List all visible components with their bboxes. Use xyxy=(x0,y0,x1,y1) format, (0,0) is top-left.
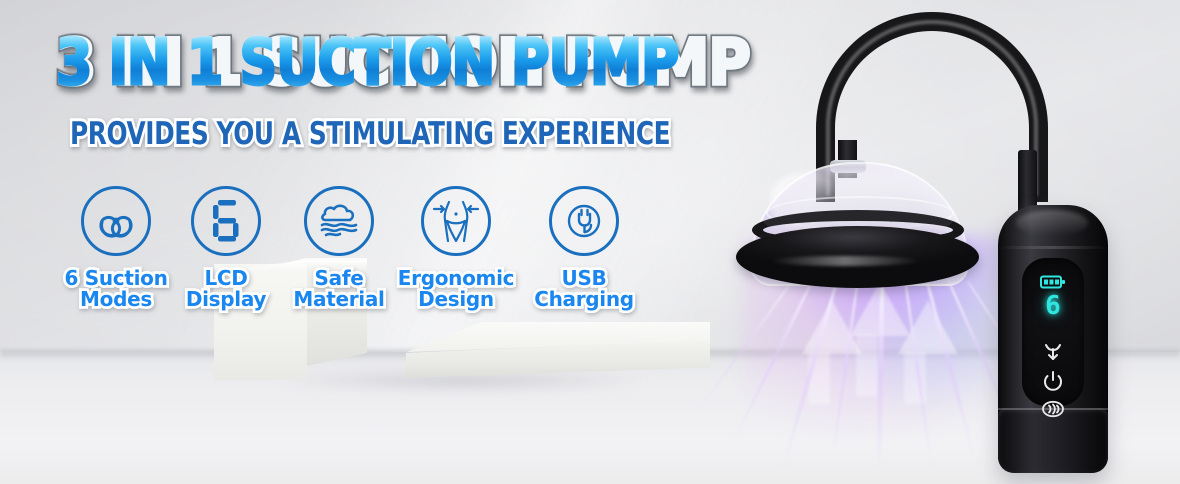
lcd-digit-six-icon xyxy=(191,186,261,256)
safe-material-icon xyxy=(304,186,374,256)
battery-full-icon xyxy=(1040,275,1066,289)
lcd-screen: 6 xyxy=(1030,266,1076,328)
feature-list: 6 SuctionModes 6 SuctionModes xyxy=(46,186,706,336)
airflow-arrow-stem xyxy=(856,334,878,396)
suction-spiral-icon xyxy=(81,186,151,256)
ergonomic-body-icon xyxy=(421,186,491,256)
suction-button[interactable] xyxy=(1022,342,1084,362)
vibration-button[interactable] xyxy=(1022,400,1084,418)
handle-seam-line xyxy=(998,246,1108,249)
headline-text: 3 IN 1 SUCTION PUMP xyxy=(56,26,678,99)
lcd-mode-number: 6 xyxy=(1045,293,1061,319)
usb-plug-icon xyxy=(549,186,619,256)
control-panel: 6 xyxy=(1022,258,1084,406)
feature-item-usb-charging: USBCharging USBCharging xyxy=(514,186,654,310)
feature-label: ErgonomicDesign xyxy=(386,268,526,310)
feature-item-ergonomic-design: ErgonomicDesign ErgonomicDesign xyxy=(386,186,526,310)
subtitle-text: PROVIDES YOU A STIMULATING EXPERIENCE xyxy=(70,116,670,152)
feature-label-block: USBCharging USBCharging xyxy=(514,268,654,310)
subtitle-block: PROVIDES YOU A STIMULATING EXPERIENCE PR… xyxy=(70,116,820,152)
feature-label: USBCharging xyxy=(514,268,654,310)
handle-top-highlight xyxy=(1016,210,1088,236)
product-image: 6 xyxy=(730,0,1180,484)
headline-block: 3 IN 1 SUCTION PUMP 3 IN 1 SUCTION PUMP … xyxy=(56,26,733,99)
feature-label-block: ErgonomicDesign ErgonomicDesign xyxy=(386,268,526,310)
power-button[interactable] xyxy=(1022,370,1084,392)
seal-ring-highlight xyxy=(770,256,920,266)
product-banner: 3 IN 1 SUCTION PUMP 3 IN 1 SUCTION PUMP … xyxy=(0,0,1180,484)
